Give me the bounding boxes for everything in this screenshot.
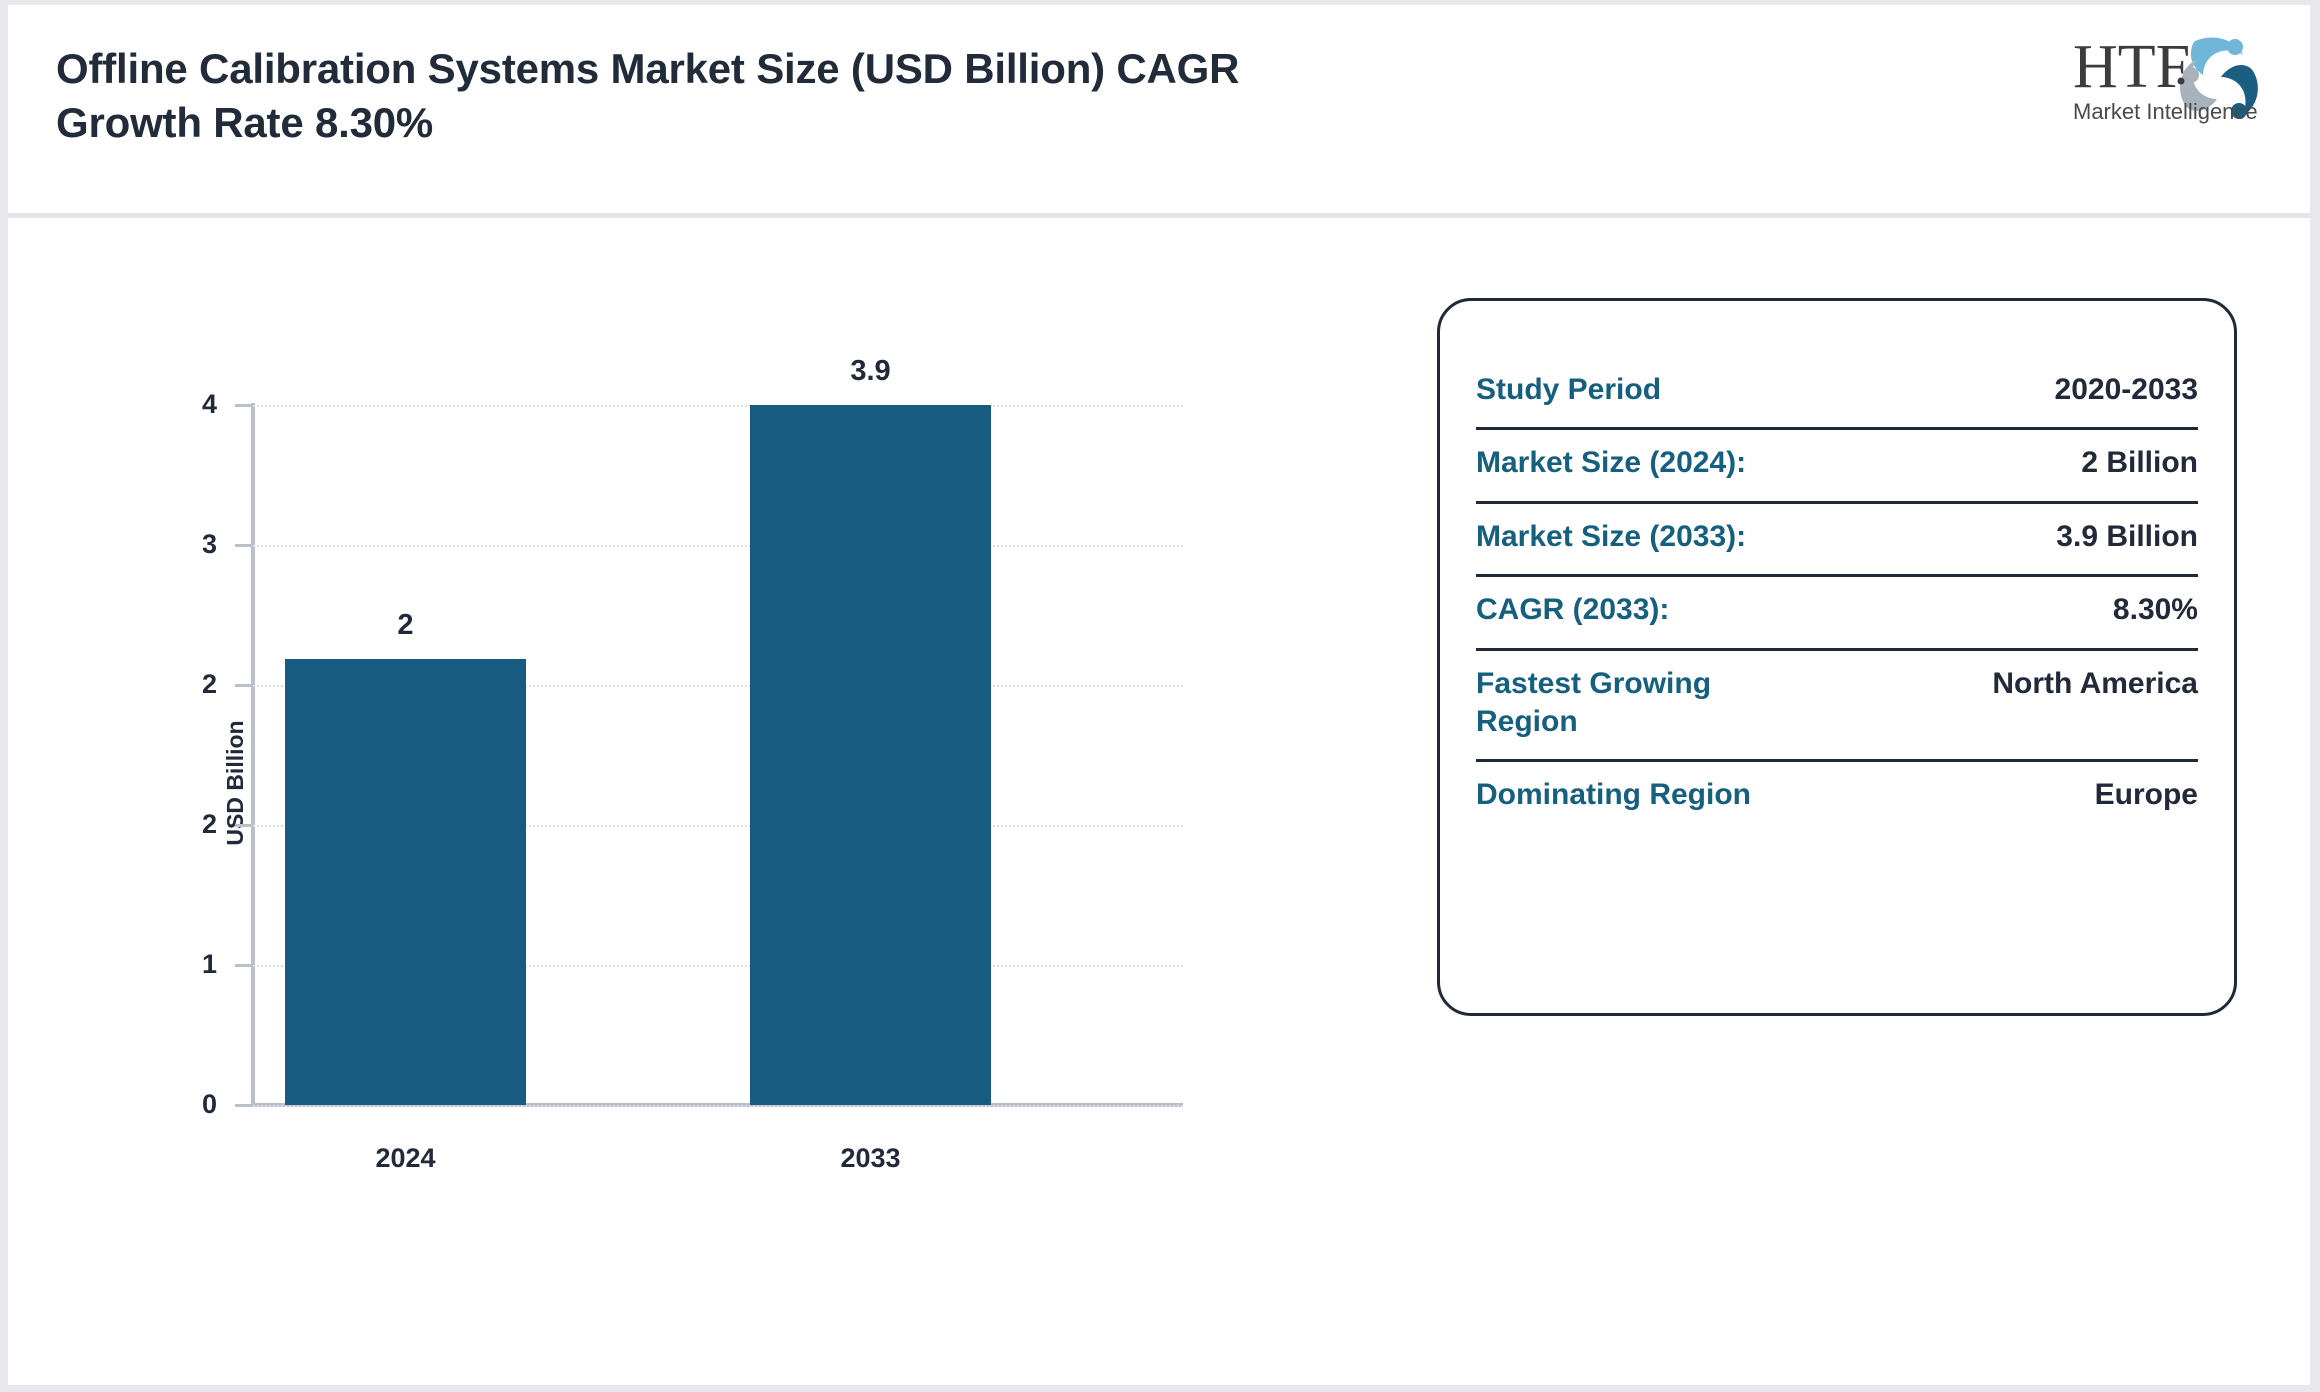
- logo-wordmark: HTF: [2073, 33, 2190, 101]
- gridline: [253, 1105, 1183, 1107]
- bar-value-label: 3.9: [750, 357, 991, 386]
- summary-row: Study Period2020-2033: [1476, 357, 2198, 430]
- page-header: Offline Calibration Systems Market Size …: [8, 5, 2310, 218]
- market-summary-card: Study Period2020-2033Market Size (2024):…: [1437, 298, 2237, 1016]
- x-axis-category-label: 2033: [750, 1145, 991, 1172]
- summary-row-label: Market Size (2024):: [1476, 444, 1746, 482]
- summary-row-value: 2 Billion: [2081, 444, 2198, 482]
- page-title: Offline Calibration Systems Market Size …: [56, 42, 1356, 150]
- summary-row-value: North America: [1992, 665, 2198, 703]
- summary-row-value: 3.9 Billion: [2056, 518, 2198, 556]
- summary-row-value: 8.30%: [2113, 591, 2198, 629]
- summary-row: Dominating RegionEurope: [1476, 762, 2198, 832]
- htf-market-intelligence-logo: HTF Market Intelligence: [2067, 27, 2272, 127]
- page-canvas: Offline Calibration Systems Market Size …: [8, 5, 2310, 1385]
- summary-row-value: 2020-2033: [2055, 371, 2198, 409]
- y-tick-mark: [235, 684, 253, 687]
- y-tick-label: 4: [157, 391, 217, 418]
- summary-row-value: Europe: [2095, 776, 2198, 814]
- summary-row-label: Study Period: [1476, 371, 1661, 409]
- y-tick-mark: [235, 824, 253, 827]
- y-axis-title: USD Billion: [224, 633, 247, 933]
- summary-row: CAGR (2033):8.30%: [1476, 577, 2198, 650]
- y-tick-label: 1: [157, 951, 217, 978]
- y-tick-mark: [235, 544, 253, 547]
- bar-value-label: 2: [285, 611, 526, 640]
- logo-tagline: Market Intelligence: [2073, 99, 2258, 124]
- y-tick-label: 0: [157, 1091, 217, 1118]
- summary-row: Fastest Growing RegionNorth America: [1476, 651, 2198, 763]
- y-tick-label: 2: [157, 811, 217, 838]
- y-tick-label: 2: [157, 671, 217, 698]
- y-tick-mark: [235, 964, 253, 967]
- gridline: [253, 405, 1183, 407]
- y-tick-label: 3: [157, 531, 217, 558]
- bar: [285, 659, 526, 1105]
- gridline: [253, 545, 1183, 547]
- summary-row: Market Size (2024):2 Billion: [1476, 430, 2198, 503]
- summary-row-label: CAGR (2033):: [1476, 591, 1669, 629]
- bar: [750, 405, 991, 1105]
- bar-chart: USD Billion 432210 220243.92033: [8, 218, 1408, 1385]
- summary-row-label: Market Size (2033):: [1476, 518, 1746, 556]
- y-tick-mark: [235, 404, 253, 407]
- y-tick-mark: [235, 1104, 253, 1107]
- summary-row: Market Size (2033):3.9 Billion: [1476, 504, 2198, 577]
- summary-row-label: Dominating Region: [1476, 776, 1751, 814]
- x-axis-category-label: 2024: [285, 1145, 526, 1172]
- summary-row-label: Fastest Growing Region: [1476, 665, 1806, 742]
